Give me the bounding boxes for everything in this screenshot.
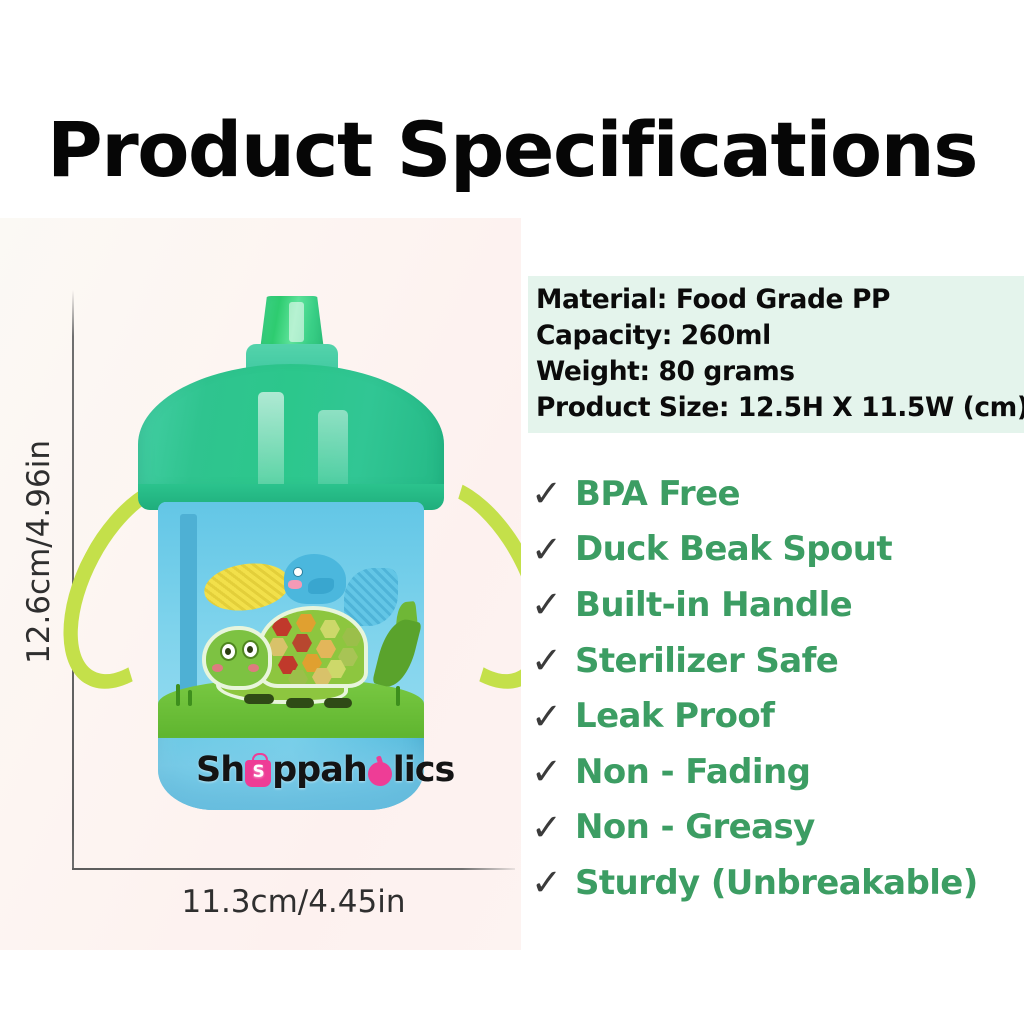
width-measure-line	[72, 868, 515, 870]
bird-wing	[308, 578, 334, 594]
bird-beak	[288, 580, 302, 589]
feature-label: Built-in Handle	[575, 588, 852, 622]
feature-label: Sturdy (Unbreakable)	[575, 866, 978, 900]
grass-blade-3	[396, 686, 400, 706]
turtle-foot-3	[324, 698, 352, 708]
check-icon: ✓	[531, 864, 575, 901]
check-icon: ✓	[531, 586, 575, 623]
page-title: Product Specifications	[0, 112, 1024, 188]
check-icon: ✓	[531, 698, 575, 735]
feature-row: ✓BPA Free	[531, 466, 1024, 522]
specifications-box: Material: Food Grade PP Capacity: 260ml …	[528, 276, 1024, 433]
watermark-prefix: Sh	[196, 750, 244, 790]
feature-row: ✓Duck Beak Spout	[531, 522, 1024, 578]
watermark-suffix: lics	[393, 750, 455, 790]
check-icon: ✓	[531, 475, 575, 512]
turtle-shell-hex	[272, 618, 292, 636]
height-dimension-label: 12.6cm/4.96in	[21, 427, 57, 677]
turtle-cheek-left	[212, 664, 223, 672]
feature-label: Leak Proof	[575, 699, 774, 733]
lid-highlight-1	[258, 392, 284, 496]
feature-row: ✓Sturdy (Unbreakable)	[531, 855, 1024, 911]
check-icon: ✓	[531, 531, 575, 568]
product-photo-panel: 12.6cm/4.96in 11.3cm/4.45in	[0, 218, 521, 950]
grass-blade-1	[176, 684, 180, 706]
grass-blade-2	[188, 690, 192, 706]
width-dimension-label: 11.3cm/4.45in	[72, 884, 515, 920]
bird-eye	[294, 568, 302, 576]
spec-line-capacity: Capacity: 260ml	[536, 318, 1024, 354]
feature-label: BPA Free	[575, 477, 740, 511]
feature-label: Non - Fading	[575, 755, 810, 789]
brand-watermark: Sh S ppah lics	[196, 750, 454, 790]
turtle-shell-hex	[296, 614, 316, 632]
turtle-shell-pattern	[262, 610, 364, 684]
feature-row: ✓Built-in Handle	[531, 577, 1024, 633]
turtle-eye-left	[222, 644, 235, 659]
turtle-shell-hex	[320, 620, 340, 638]
feature-row: ✓Non - Greasy	[531, 800, 1024, 856]
turtle-head	[206, 630, 268, 686]
turtle-cheek-right	[248, 664, 259, 672]
turtle-shell-hex	[316, 640, 336, 658]
feature-label: Duck Beak Spout	[575, 532, 892, 566]
check-icon: ✓	[531, 753, 575, 790]
turtle-eye-right	[244, 642, 257, 657]
sippy-cup-image: Sh S ppah lics	[96, 288, 486, 828]
watermark-middle: ppah	[272, 750, 367, 790]
feature-label: Non - Greasy	[575, 810, 815, 844]
cup-lid	[138, 364, 444, 504]
watermark-bag-letter: S	[245, 762, 271, 782]
product-spec-canvas: Product Specifications 12.6cm/4.96in 11.…	[0, 0, 1024, 1024]
check-icon: ✓	[531, 809, 575, 846]
spec-line-weight: Weight: 80 grams	[536, 354, 1024, 390]
spec-line-size: Product Size: 12.5H X 11.5W (cm)	[536, 390, 1024, 426]
turtle-shell-hex	[268, 638, 288, 656]
pink-dot-icon	[368, 762, 392, 786]
turtle-foot-2	[286, 698, 314, 708]
feature-label: Sterilizer Safe	[575, 644, 838, 678]
tree-trunk-graphic	[180, 514, 197, 694]
shopping-bag-icon: S	[245, 760, 271, 787]
feature-list: ✓BPA Free✓Duck Beak Spout✓Built-in Handl…	[531, 466, 1024, 911]
turtle-shell-hex	[292, 634, 312, 652]
spec-line-material: Material: Food Grade PP	[536, 282, 1024, 318]
turtle-shell-hex	[342, 628, 362, 646]
bird-graphic	[284, 554, 346, 604]
turtle-foot-1	[244, 694, 274, 704]
check-icon: ✓	[531, 642, 575, 679]
feature-row: ✓Leak Proof	[531, 688, 1024, 744]
feature-row: ✓Sterilizer Safe	[531, 633, 1024, 689]
turtle-shell	[262, 610, 364, 684]
spout-highlight	[289, 302, 304, 342]
feature-row: ✓Non - Fading	[531, 744, 1024, 800]
